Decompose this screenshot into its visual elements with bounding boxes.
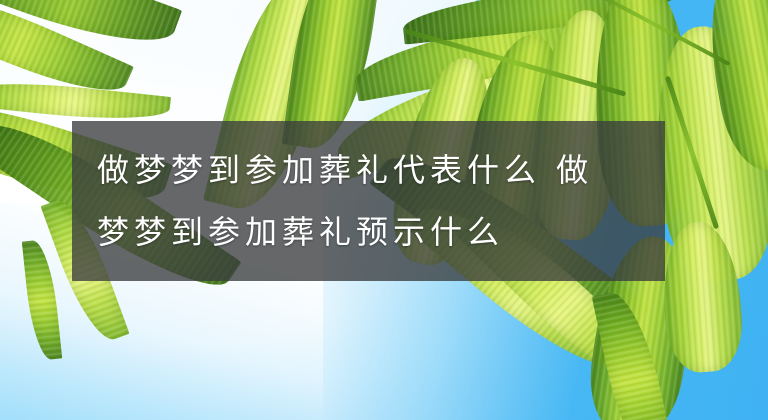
caption-line-2: 梦梦到参加葬礼预示什么: [72, 201, 665, 263]
bamboo-pod-icon: [659, 220, 745, 375]
screenshot-canvas: 做梦梦到参加葬礼代表什么 做 梦梦到参加葬礼预示什么: [0, 0, 768, 420]
caption-overlay-band: 做梦梦到参加葬礼代表什么 做 梦梦到参加葬礼预示什么: [72, 121, 665, 281]
caption-line-1: 做梦梦到参加葬礼代表什么 做: [72, 139, 665, 201]
